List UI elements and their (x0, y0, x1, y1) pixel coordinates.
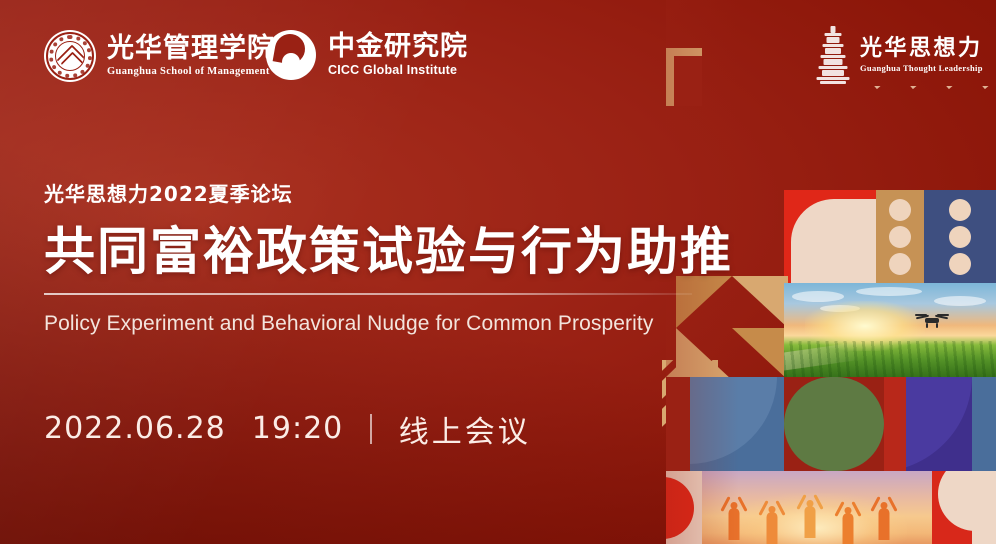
cicc-cn: 中金研究院 (328, 33, 468, 61)
logo-guanghua-school: 光华管理学院 Guanghua School of Management (44, 30, 275, 82)
logo-cicc-global-institute: 中金研究院 CICC Global Institute (266, 30, 468, 80)
bottom-collage-row (666, 471, 996, 544)
event-venue: 线上会议 (399, 407, 531, 451)
gtl-en: Guanghua Thought Leadership (860, 63, 983, 73)
blue-quarter-circle-block (690, 377, 784, 471)
red-quarter-circle-block (784, 190, 876, 284)
title-divider (44, 293, 692, 295)
pku-seal-icon (44, 30, 96, 82)
forum-kicker: 光华思想力2022夏季论坛 (44, 178, 704, 207)
beige-strip-right (972, 471, 996, 544)
red-block-with-circle (932, 471, 996, 544)
page-title: 共同富裕政策试验与行为助推 (44, 224, 704, 281)
event-date: 2022.06.28 (44, 411, 226, 446)
gtl-cn: 光华思想力 (860, 37, 983, 60)
blue-dots-block (924, 190, 996, 284)
drone-farmland-photo (784, 283, 996, 377)
purple-quarter-circle-block (906, 377, 972, 471)
logo-bar: 光华管理学院 Guanghua School of Management 中金研… (44, 26, 996, 92)
forum-poster: 光华管理学院 Guanghua School of Management 中金研… (0, 0, 996, 544)
logo-guanghua-thought-leadership: 光华思想力 Guanghua Thought Leadership (816, 26, 983, 84)
beige-block-left (666, 471, 702, 544)
event-meta: 2022.06.28 19:20 线上会议 (44, 407, 704, 451)
green-petal-block (784, 377, 884, 471)
beige-backing-block (784, 190, 876, 284)
blue-strip-right (972, 377, 996, 471)
cicc-circle-icon (266, 30, 316, 80)
guanghua-school-en: Guanghua School of Management (107, 66, 275, 77)
pagoda-icon (816, 26, 850, 84)
cicc-en: CICC Global Institute (328, 63, 468, 77)
event-time: 19:20 (252, 411, 343, 446)
diagonal-stripes-top (836, 86, 996, 206)
page-subtitle: Policy Experiment and Behavioral Nudge f… (44, 312, 704, 336)
color-block-row (666, 377, 996, 471)
red-strip-middle (884, 377, 906, 471)
poster-content: 光华思想力2022夏季论坛 共同富裕政策试验与行为助推 Policy Exper… (44, 178, 704, 451)
drone-icon (916, 314, 948, 328)
meta-separator (370, 414, 372, 444)
tan-dots-block (876, 190, 924, 284)
people-silhouette-photo (702, 471, 932, 544)
guanghua-school-cn: 光华管理学院 (107, 35, 275, 63)
